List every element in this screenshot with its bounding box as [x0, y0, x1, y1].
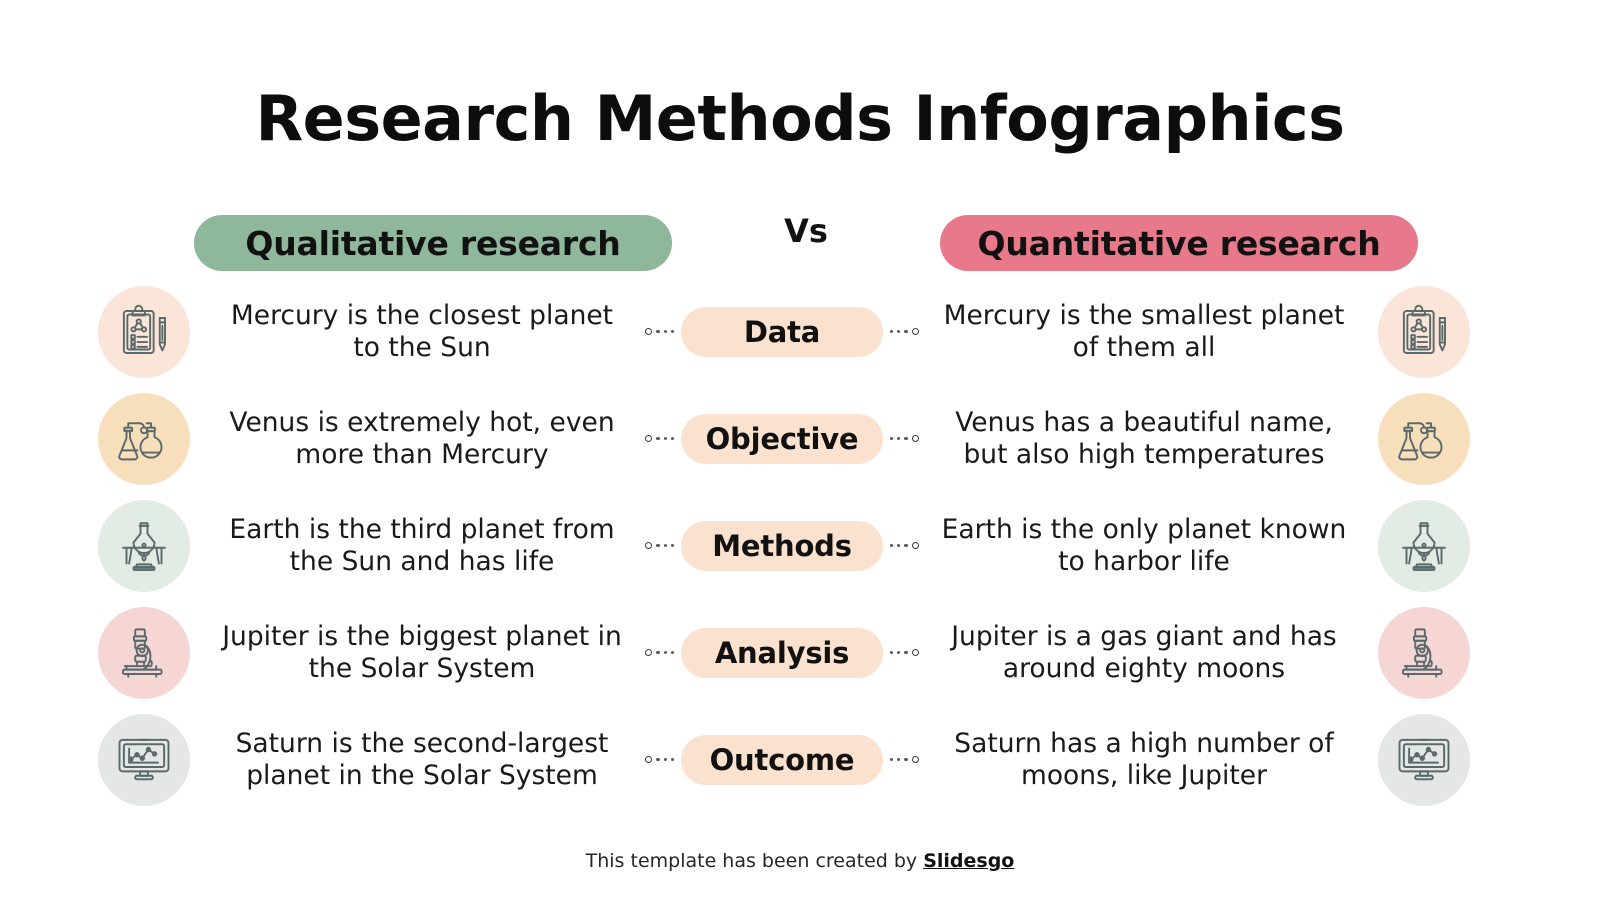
- center-category-pill: Outcome: [681, 735, 883, 785]
- connector-dot: [671, 758, 674, 761]
- flasks-icon: [98, 393, 190, 485]
- connector-dot: [890, 651, 893, 654]
- connector-ring: [645, 756, 652, 763]
- page-title: Research Methods Infographics: [0, 82, 1600, 155]
- connector-dot: [904, 651, 907, 654]
- footer-prefix: This template has been created by: [586, 850, 924, 872]
- connector-dot: [664, 651, 667, 654]
- connector-dot: [656, 544, 659, 547]
- flasks-icon: [1378, 393, 1470, 485]
- connector-dot: [671, 330, 674, 333]
- monitor-chart-icon: [98, 714, 190, 806]
- connector: [890, 649, 919, 656]
- connector-dot: [664, 330, 667, 333]
- comparison-row: Jupiter is the biggest planet in the Sol…: [0, 599, 1600, 706]
- connector-dot: [671, 651, 674, 654]
- vs-label: Vs: [672, 212, 940, 250]
- connector-dot: [656, 437, 659, 440]
- connector-dot: [664, 437, 667, 440]
- monitor-chart-icon: [1378, 714, 1470, 806]
- qualitative-text: Jupiter is the biggest planet in the Sol…: [198, 621, 646, 684]
- center-category-pill: Methods: [681, 521, 883, 571]
- connector: [890, 756, 919, 763]
- quantitative-text: Jupiter is a gas giant and has around ei…: [918, 621, 1370, 684]
- microscope-icon: [98, 607, 190, 699]
- burner-flask-icon: [1378, 500, 1470, 592]
- connector-dot: [897, 758, 900, 761]
- connector-dot: [890, 544, 893, 547]
- quantitative-text: Earth is the only planet known to harbor…: [918, 514, 1370, 577]
- connector-ring: [645, 328, 652, 335]
- quantitative-text: Venus has a beautiful name, but also hig…: [918, 407, 1370, 470]
- connector-dot: [904, 758, 907, 761]
- quantitative-header-pill: Quantitative research: [940, 215, 1418, 271]
- connector-dot: [664, 544, 667, 547]
- connector-dot: [897, 437, 900, 440]
- comparison-row: Venus is extremely hot, even more than M…: [0, 385, 1600, 492]
- clipboard-pen-icon: [98, 286, 190, 378]
- qualitative-header-pill: Qualitative research: [194, 215, 672, 271]
- microscope-icon: [1378, 607, 1470, 699]
- connector-dot: [904, 330, 907, 333]
- footer-credit: This template has been created by Slides…: [0, 850, 1600, 872]
- comparison-row: Saturn is the second-largest planet in t…: [0, 706, 1600, 813]
- qualitative-text: Venus is extremely hot, even more than M…: [198, 407, 646, 470]
- connector-dot: [897, 544, 900, 547]
- center-label-block: Methods: [646, 521, 918, 571]
- connector: [890, 435, 919, 442]
- qualitative-text: Earth is the third planet from the Sun a…: [198, 514, 646, 577]
- connector-dot: [671, 437, 674, 440]
- clipboard-pen-icon: [1378, 286, 1470, 378]
- connector-dot: [897, 330, 900, 333]
- quantitative-text: Mercury is the smallest planet of them a…: [918, 300, 1370, 363]
- connector-dot: [890, 330, 893, 333]
- connector-dot: [656, 758, 659, 761]
- qualitative-text: Mercury is the closest planet to the Sun: [198, 300, 646, 363]
- connector: [645, 542, 674, 549]
- center-category-pill: Objective: [681, 414, 883, 464]
- center-category-pill: Analysis: [681, 628, 883, 678]
- burner-flask-icon: [98, 500, 190, 592]
- connector: [645, 435, 674, 442]
- connector: [645, 649, 674, 656]
- connector: [645, 756, 674, 763]
- center-category-pill: Data: [681, 307, 883, 357]
- connector-dot: [656, 651, 659, 654]
- connector-dot: [904, 437, 907, 440]
- connector-dot: [671, 544, 674, 547]
- connector-dot: [890, 437, 893, 440]
- connector-ring: [645, 649, 652, 656]
- center-label-block: Analysis: [646, 628, 918, 678]
- slidesgo-link[interactable]: Slidesgo: [923, 850, 1014, 872]
- quantitative-text: Saturn has a high number of moons, like …: [918, 728, 1370, 791]
- connector-ring: [645, 435, 652, 442]
- connector: [890, 328, 919, 335]
- infographic-slide: Research Methods Infographics Qualitativ…: [0, 0, 1600, 900]
- connector-dot: [890, 758, 893, 761]
- comparison-row: Earth is the third planet from the Sun a…: [0, 492, 1600, 599]
- center-label-block: Outcome: [646, 735, 918, 785]
- comparison-row: Mercury is the closest planet to the Sun…: [0, 278, 1600, 385]
- connector-ring: [645, 542, 652, 549]
- connector-dot: [656, 330, 659, 333]
- connector: [645, 328, 674, 335]
- connector-dot: [904, 544, 907, 547]
- connector-dot: [664, 758, 667, 761]
- center-label-block: Data: [646, 307, 918, 357]
- connector: [890, 542, 919, 549]
- connector-dot: [897, 651, 900, 654]
- qualitative-text: Saturn is the second-largest planet in t…: [198, 728, 646, 791]
- center-label-block: Objective: [646, 414, 918, 464]
- comparison-rows: Mercury is the closest planet to the Sun…: [0, 278, 1600, 813]
